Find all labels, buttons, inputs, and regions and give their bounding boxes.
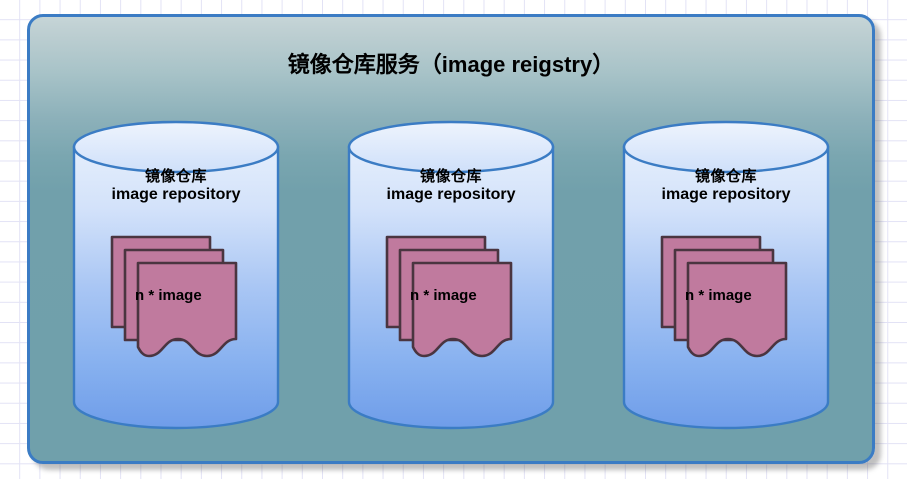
image-stack-2[interactable]: n * image <box>384 234 514 359</box>
image-registry-panel: 镜像仓库服务（image reigstry） 镜像仓库 <box>27 14 875 464</box>
repository-cylinder-2[interactable]: 镜像仓库 image repository n * image <box>348 121 554 428</box>
document-stack-icon <box>109 234 239 359</box>
page-title: 镜像仓库服务（image reigstry） <box>30 47 872 79</box>
document-stack-icon <box>384 234 514 359</box>
repository-cylinder-1[interactable]: 镜像仓库 image repository n * image <box>73 121 279 428</box>
repository-cylinder-3[interactable]: 镜像仓库 image repository n * image <box>623 121 829 428</box>
document-stack-icon <box>659 234 789 359</box>
image-stack-3[interactable]: n * image <box>659 234 789 359</box>
image-stack-1[interactable]: n * image <box>109 234 239 359</box>
